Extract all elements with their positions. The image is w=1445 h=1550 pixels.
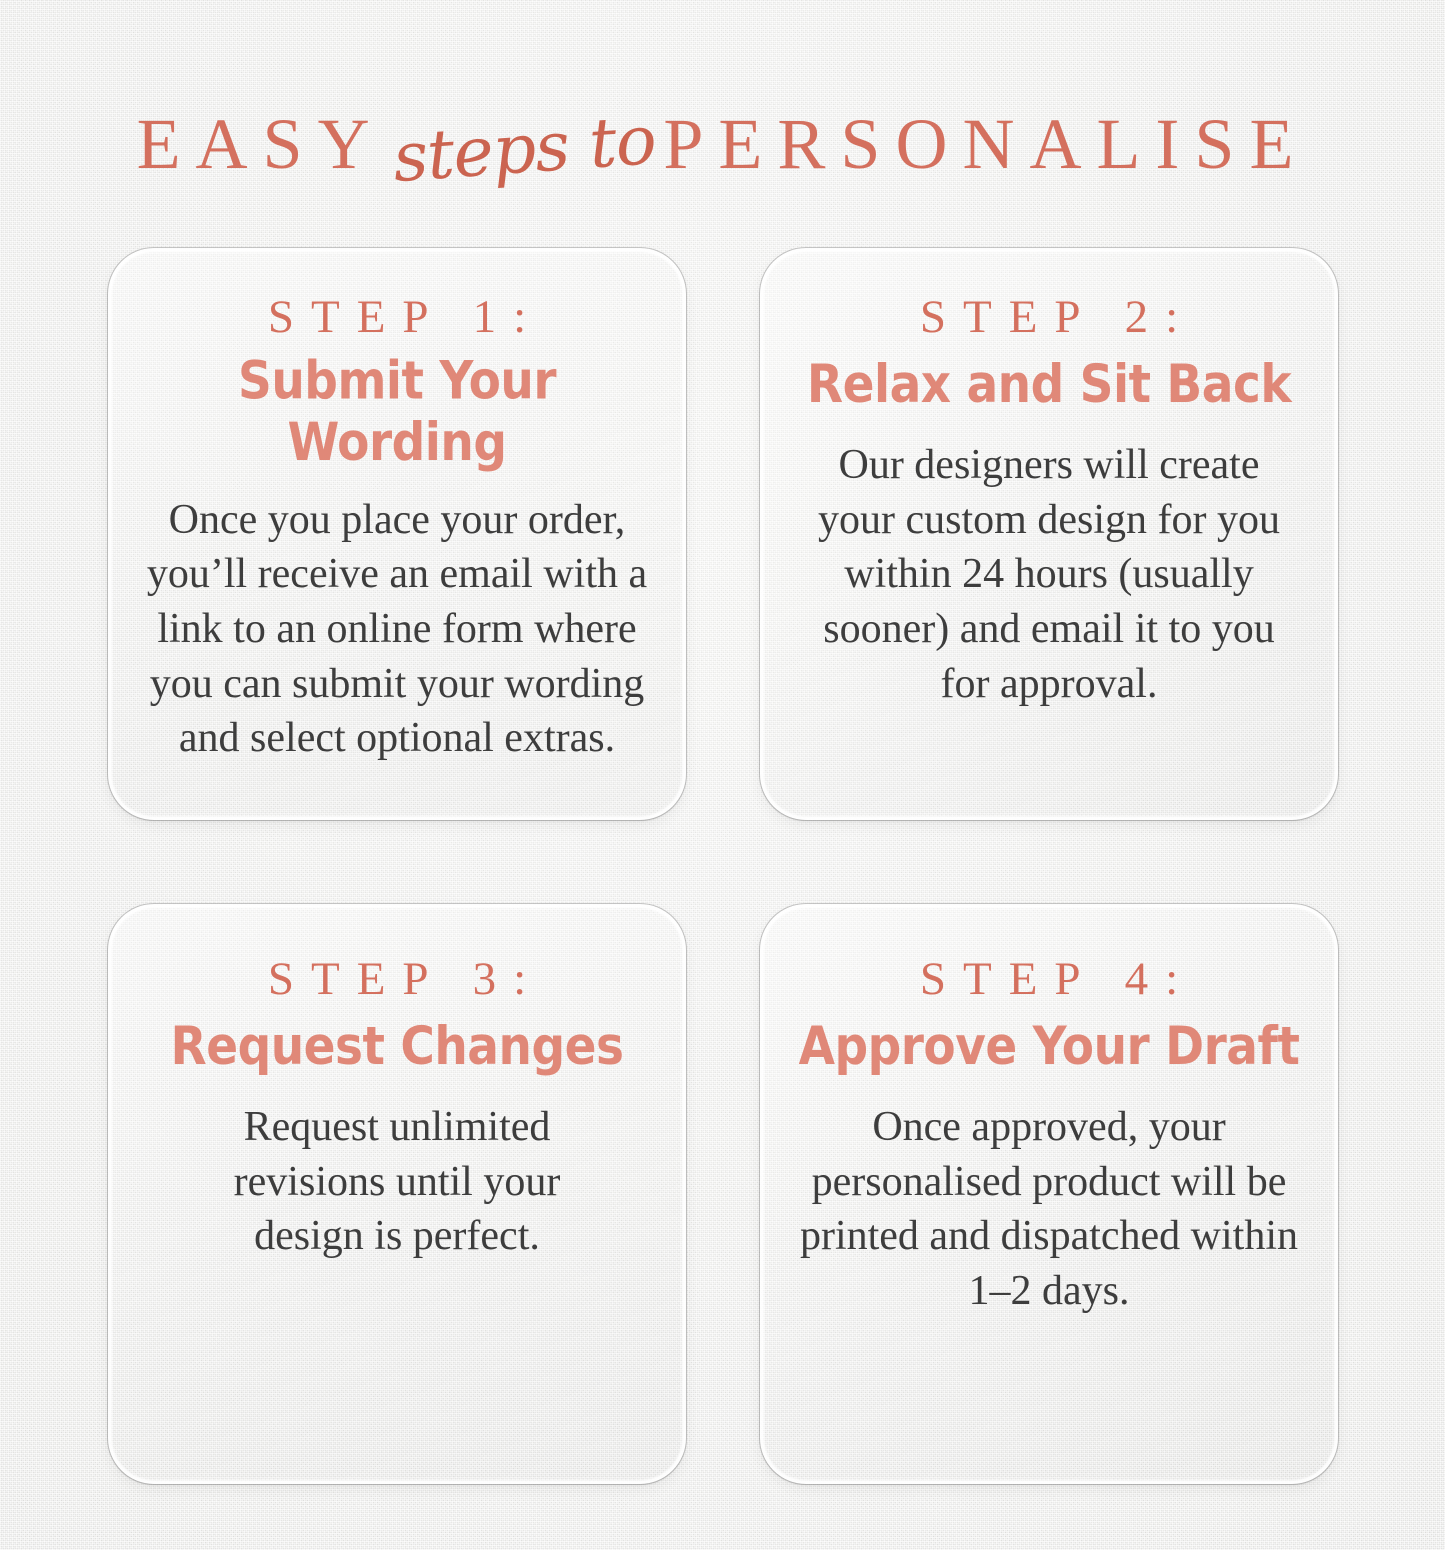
step-card-1-label: STEP 1: [132, 292, 662, 344]
step-card-4-body: Once approved, your personalised product… [789, 1100, 1309, 1318]
step-card-2-body: Our designers will create your custom de… [803, 438, 1295, 711]
step-card-2: STEP 2: Relax and Sit Back Our designers… [760, 248, 1338, 820]
step-card-2-content: STEP 2: Relax and Sit Back Our designers… [762, 292, 1336, 711]
step-card-1-title: Submit Your Wording [132, 351, 662, 473]
step-card-3-title: Request Changes [132, 1016, 662, 1077]
step-card-2-label: STEP 2: [784, 292, 1314, 344]
step-card-2-title: Relax and Sit Back [784, 354, 1314, 415]
page-title: EASYsteps toPERSONALISE [0, 108, 1445, 180]
step-card-3-body: Request unlimited revisions until your d… [197, 1100, 597, 1264]
step-card-1-content: STEP 1: Submit Your Wording Once you pla… [110, 292, 684, 766]
step-card-4-content: STEP 4: Approve Your Draft Once approved… [762, 954, 1336, 1319]
step-card-3: STEP 3: Request Changes Request unlimite… [108, 904, 686, 1484]
page-title-word-easy: EASY [137, 104, 385, 184]
step-card-3-content: STEP 3: Request Changes Request unlimite… [110, 954, 684, 1264]
step-card-3-label: STEP 3: [132, 954, 662, 1006]
steps-grid: STEP 1: Submit Your Wording Once you pla… [108, 248, 1338, 1484]
page-title-script-steps-to: steps to [383, 106, 666, 193]
step-card-1: STEP 1: Submit Your Wording Once you pla… [108, 248, 686, 820]
step-card-4: STEP 4: Approve Your Draft Once approved… [760, 904, 1338, 1484]
step-card-1-body: Once you place your order, you’ll receiv… [143, 493, 651, 766]
step-card-4-title: Approve Your Draft [784, 1016, 1314, 1077]
page-title-word-personalise: PERSONALISE [663, 104, 1308, 184]
step-card-4-label: STEP 4: [784, 954, 1314, 1006]
